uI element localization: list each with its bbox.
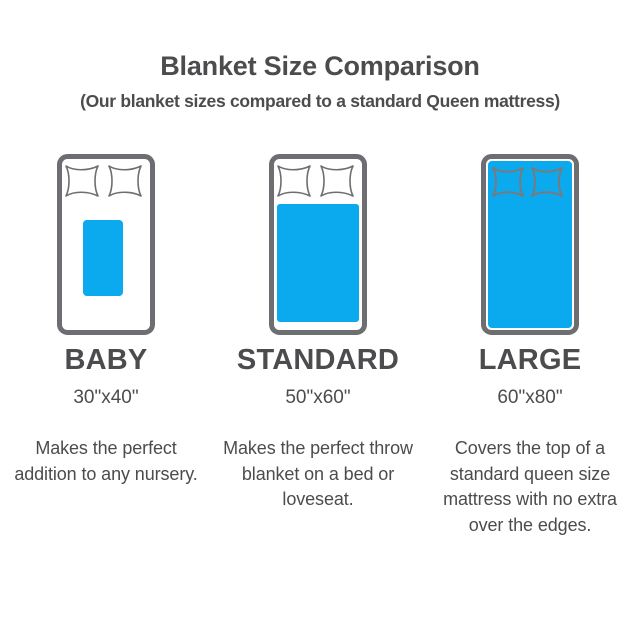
size-dimensions-baby: 30"x40" (73, 388, 138, 407)
bed-diagram-large-icon (480, 146, 580, 338)
size-column-large: LARGE 60"x80" Covers the top of a standa… (424, 146, 636, 538)
size-columns: BABY 30"x40" Makes the perfect addition … (0, 146, 640, 538)
size-column-standard: STANDARD 50"x60" Makes the perfect throw… (212, 146, 424, 538)
bed-illustration-large (480, 146, 580, 338)
size-description-standard: Makes the perfect throw blanket on a bed… (220, 436, 416, 513)
size-dimensions-standard: 50"x60" (285, 388, 350, 407)
header: Blanket Size Comparison (Our blanket siz… (0, 52, 640, 112)
page-title: Blanket Size Comparison (0, 52, 640, 82)
size-dimensions-large: 60"x80" (497, 388, 562, 407)
size-column-baby: BABY 30"x40" Makes the perfect addition … (0, 146, 212, 538)
bed-illustration-baby (56, 146, 156, 338)
size-name-baby: BABY (65, 346, 148, 375)
page-subtitle: (Our blanket sizes compared to a standar… (0, 91, 640, 112)
size-name-standard: STANDARD (237, 346, 399, 375)
blanket-size-comparison-infographic: Blanket Size Comparison (Our blanket siz… (0, 0, 640, 640)
size-description-baby: Makes the perfect addition to any nurser… (8, 436, 204, 487)
size-description-large: Covers the top of a standard queen size … (432, 436, 628, 538)
size-name-large: LARGE (479, 346, 582, 375)
bed-illustration-standard (268, 146, 368, 338)
bed-diagram-baby-icon (56, 146, 156, 338)
bed-diagram-standard-icon (268, 146, 368, 338)
